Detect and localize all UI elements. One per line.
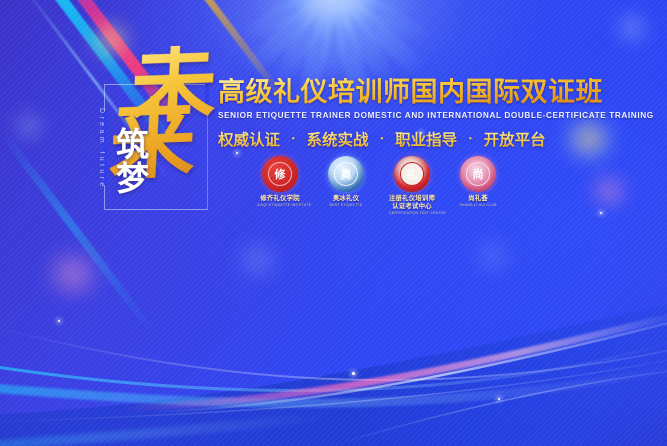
light-orb-decoration xyxy=(612,12,652,44)
feature-separator-icon: · xyxy=(369,132,396,147)
partner-name-en: CERTIFICATION TEST CENTER xyxy=(389,211,435,215)
partner-logo-shanglihui: 尚 尚礼荟 SHANG LI HUI CLUB xyxy=(454,156,502,215)
feature-item-3: 职业指导 xyxy=(395,128,457,150)
feature-item-4: 开放平台 xyxy=(484,128,546,150)
partner-name-en: XIUQI ETIQUETTE INSTITUTE xyxy=(257,203,303,207)
page-title: 高级礼仪培训师国内国际双证班 xyxy=(218,78,650,107)
sparkle-decoration xyxy=(236,152,238,154)
seal-emblem-icon: 尚 xyxy=(460,156,496,192)
feature-separator-icon: · xyxy=(280,132,307,147)
partner-logo-certification-center: 礼 注册礼仪培训师 认证考试中心 CERTIFICATION TEST CENT… xyxy=(388,156,436,215)
event-banner: Dream future 未 来 筑 梦 高级礼仪培训师国内国际双证班 SENI… xyxy=(0,0,667,446)
sparkle-decoration xyxy=(498,398,500,400)
calligraphy-brush-zhumeng: 筑 梦 xyxy=(116,128,149,195)
partner-logo-xiuqi: 修 修齐礼仪学院 XIUQI ETIQUETTE INSTITUTE xyxy=(256,156,304,215)
page-subtitle: SENIOR ETIQUETTE TRAINER DOMESTIC AND IN… xyxy=(218,111,650,120)
seal-emblem-icon: 修 xyxy=(262,156,298,192)
sparkle-decoration xyxy=(58,320,60,322)
partner-logo-row: 修 修齐礼仪学院 XIUQI ETIQUETTE INSTITUTE 奥 奥冰礼… xyxy=(256,156,502,215)
feature-item-2: 系统实战 xyxy=(307,128,369,150)
partner-name-cn: 修齐礼仪学院 xyxy=(256,194,304,202)
light-orb-decoration xyxy=(470,238,516,274)
feature-list: 权威认证 · 系统实战 · 职业指导 · 开放平台 xyxy=(218,128,650,150)
brush-char-zhu: 筑 xyxy=(116,128,149,162)
feature-item-1: 权威认证 xyxy=(218,128,280,150)
feature-separator-icon: · xyxy=(457,132,484,147)
seal-emblem-icon: 礼 xyxy=(394,156,430,192)
light-orb-decoration xyxy=(42,250,104,298)
headline-block: 高级礼仪培训师国内国际双证班 SENIOR ETIQUETTE TRAINER … xyxy=(218,78,650,150)
partner-name-cn: 注册礼仪培训师 认证考试中心 xyxy=(388,194,436,210)
calligraphy-vertical-english: Dream future xyxy=(98,108,105,190)
partner-logo-best-etiquette: 奥 奥冰礼仪 BEST ETIQUETTE xyxy=(322,156,370,215)
partner-name-cn: 尚礼荟 xyxy=(454,194,502,202)
partner-name-cn: 奥冰礼仪 xyxy=(322,194,370,202)
light-orb-decoration xyxy=(588,174,630,208)
partner-name-en: SHANG LI HUI CLUB xyxy=(455,203,501,207)
bottom-light-sweep-decoration xyxy=(0,296,667,446)
brush-char-meng: 梦 xyxy=(116,162,149,196)
sparkle-decoration xyxy=(600,212,602,214)
partner-name-en: BEST ETIQUETTE xyxy=(323,203,369,207)
seal-emblem-icon: 奥 xyxy=(328,156,364,192)
sparkle-decoration xyxy=(352,372,355,375)
light-orb-decoration xyxy=(232,240,284,280)
light-orb-decoration xyxy=(12,112,46,140)
calligraphy-block: Dream future 未 来 筑 梦 xyxy=(96,52,224,224)
